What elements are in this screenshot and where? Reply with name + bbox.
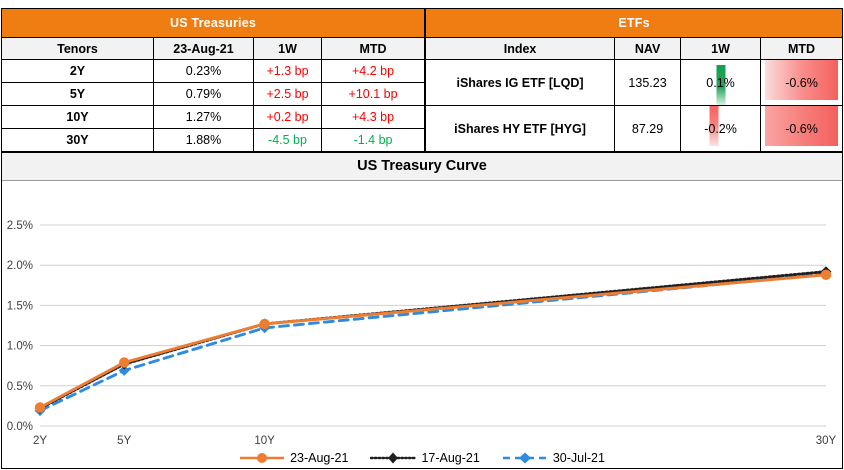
chart-legend: 23-Aug-21 17-Aug-21 30-Jul-21 [2,451,842,465]
treasury-tenor: 10Y [2,106,154,129]
etf-1w-value: 0.1% [706,76,735,90]
treasury-mtd: +4.2 bp [322,60,425,83]
etf-mtd-cell: -0.6% [761,106,843,152]
legend-swatch-solid-circle [239,451,285,465]
legend-item-2[interactable]: 30-Jul-21 [502,451,605,465]
y-axis-tick-label: 1.5% [7,300,33,312]
treasury-curve-chart: 0.0%0.5%1.0%1.5%2.0%2.5%2Y5Y10Y30Y [2,181,842,469]
y-axis-tick-label: 2.0% [7,260,33,272]
treasury-col-tenors: Tenors [2,38,154,60]
series-line-1 [40,272,826,409]
treasury-col-date: 23-Aug-21 [154,38,254,60]
data-point-marker [119,357,129,367]
legend-item-1[interactable]: 17-Aug-21 [370,451,479,465]
etf-header-row: Index NAV 1W MTD [426,38,843,60]
treasury-mtd: +4.3 bp [322,106,425,129]
table-row: 30Y 1.88% -4.5 bp -1.4 bp [2,129,425,152]
treasury-1w: +1.3 bp [254,60,322,83]
us-treasury-curve-panel: US Treasury Curve 0.0%0.5%1.0%1.5%2.0%2.… [1,152,843,469]
treasury-level: 0.79% [154,83,254,106]
etf-nav-value: 135.23 [615,60,681,106]
treasury-level: 1.88% [154,129,254,152]
y-axis-tick-label: 0.5% [7,381,33,393]
etfs-table: ETFs Index NAV 1W MTD iShares IG ETF [LQ… [425,8,843,152]
series-line-2 [40,274,826,411]
treasury-table-title: US Treasuries [2,9,425,38]
legend-item-0[interactable]: 23-Aug-21 [239,451,348,465]
etf-nav-value: 87.29 [615,106,681,152]
etf-mtd-value: -0.6% [785,76,818,90]
legend-label: 30-Jul-21 [553,452,605,465]
data-point-marker [259,319,269,329]
treasury-col-mtd: MTD [322,38,425,60]
legend-label: 23-Aug-21 [290,452,348,465]
etf-index-name: iShares IG ETF [LQD] [426,60,615,106]
x-axis-tick-label: 30Y [816,435,837,447]
treasury-title-row: US Treasuries [2,9,425,38]
etf-table-title: ETFs [426,9,843,38]
treasury-1w: +0.2 bp [254,106,322,129]
dashboard-root: US Treasuries Tenors 23-Aug-21 1W MTD 2Y… [0,0,844,470]
etf-title-row: ETFs [426,9,843,38]
legend-swatch-dashed-diamond [502,451,548,465]
treasury-level: 0.23% [154,60,254,83]
treasury-mtd: +10.1 bp [322,83,425,106]
x-axis-tick-label: 5Y [117,435,131,447]
treasury-1w: +2.5 bp [254,83,322,106]
treasury-tenor: 5Y [2,83,154,106]
y-axis-tick-label: 2.5% [7,220,33,232]
etf-1w-value: -0.2% [704,122,737,136]
treasury-tenor: 30Y [2,129,154,152]
etf-col-nav: NAV [615,38,681,60]
etf-mtd-cell: -0.6% [761,60,843,106]
table-row: 2Y 0.23% +1.3 bp +4.2 bp [2,60,425,83]
treasury-tenor: 2Y [2,60,154,83]
etf-1w-cell: 0.1% [681,60,761,106]
treasury-mtd: -1.4 bp [322,129,425,152]
x-axis-tick-label: 10Y [254,435,275,447]
series-line-0 [40,275,826,408]
legend-swatch-dotted-diamond [370,451,416,465]
etf-mtd-value: -0.6% [785,122,818,136]
summary-tables: US Treasuries Tenors 23-Aug-21 1W MTD 2Y… [0,0,844,152]
y-axis-tick-label: 0.0% [7,421,33,433]
etf-1w-cell: -0.2% [681,106,761,152]
etf-col-1w: 1W [681,38,761,60]
treasury-col-1w: 1W [254,38,322,60]
chart-plot-area: 0.0%0.5%1.0%1.5%2.0%2.5%2Y5Y10Y30Y 23-Au… [2,181,842,469]
table-row: iShares HY ETF [HYG] 87.29 -0.2% -0.6% [426,106,843,152]
data-point-marker [821,270,831,280]
treasury-header-row: Tenors 23-Aug-21 1W MTD [2,38,425,60]
etf-col-index: Index [426,38,615,60]
chart-title: US Treasury Curve [2,153,842,181]
legend-label: 17-Aug-21 [421,452,479,465]
treasury-level: 1.27% [154,106,254,129]
y-axis-tick-label: 1.0% [7,341,33,353]
etf-index-name: iShares HY ETF [HYG] [426,106,615,152]
treasury-1w: -4.5 bp [254,129,322,152]
us-treasuries-table: US Treasuries Tenors 23-Aug-21 1W MTD 2Y… [1,8,425,152]
x-axis-tick-label: 2Y [33,435,47,447]
data-point-marker [35,402,45,412]
table-row: iShares IG ETF [LQD] 135.23 0.1% -0.6% [426,60,843,106]
table-row: 10Y 1.27% +0.2 bp +4.3 bp [2,106,425,129]
etf-col-mtd: MTD [761,38,843,60]
table-row: 5Y 0.79% +2.5 bp +10.1 bp [2,83,425,106]
